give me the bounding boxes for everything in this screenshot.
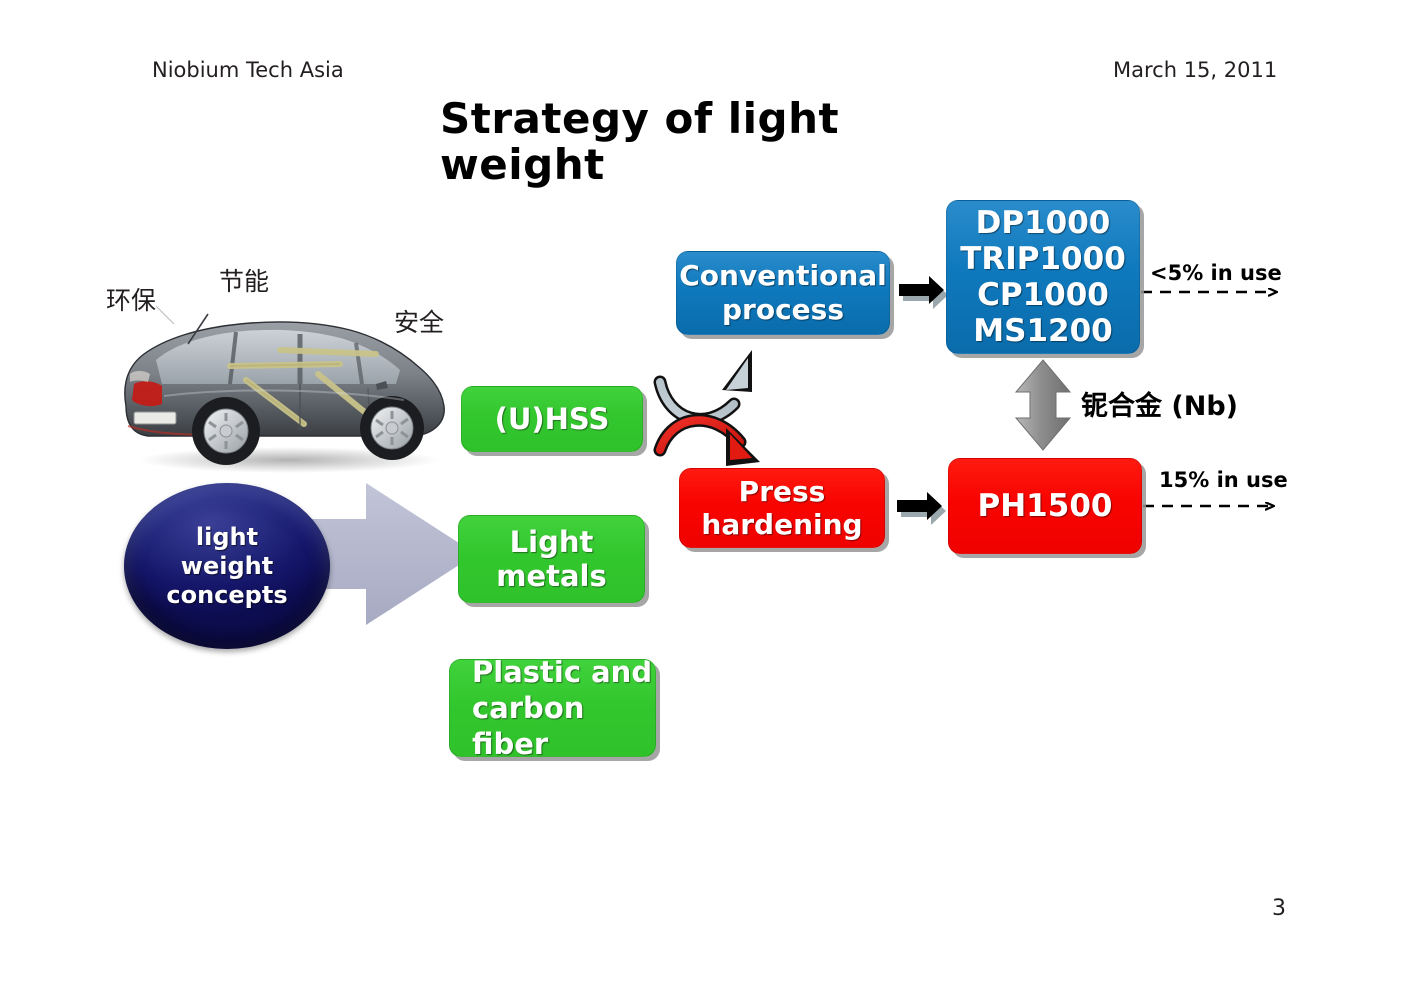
arrow-conventional-to-grades xyxy=(899,276,948,309)
plastic-line-2: carbon fiber xyxy=(472,691,584,757)
process-box-conventional[interactable]: Conventional process xyxy=(676,251,890,335)
concept-line-1: light xyxy=(196,523,258,551)
grade-line-3: CP1000 xyxy=(977,277,1109,313)
usage-note-conventional: <5% in use xyxy=(1150,261,1282,285)
process-box-press-hardening-label: Press hardening xyxy=(680,475,884,541)
process-box-conventional-label: Conventional process xyxy=(677,259,889,327)
header-date: March 15, 2011 xyxy=(1113,58,1277,82)
niobium-alloy-label: 铌合金 (Nb) xyxy=(1081,384,1238,423)
curve-arrow-to-press-hardening xyxy=(660,420,760,466)
light-metals-line-1: Light xyxy=(510,525,594,559)
press-line-2: hardening xyxy=(701,508,862,541)
process-box-press-hardening[interactable]: Press hardening xyxy=(679,468,885,548)
header-left-text: Niobium Tech Asia xyxy=(152,58,344,82)
light-weight-concepts-label: light weight concepts xyxy=(166,523,287,610)
grade-line-1: DP1000 xyxy=(976,205,1111,241)
conventional-line-1: Conventional xyxy=(679,259,887,292)
page-number: 3 xyxy=(1272,896,1286,921)
light-weight-concepts-circle[interactable]: light weight concepts xyxy=(124,483,330,649)
grade-line-4: MS1200 xyxy=(973,313,1112,349)
material-box-light-metals-label: Light metals xyxy=(496,525,607,593)
conventional-line-2: process xyxy=(722,293,844,326)
car-callout-huanbao: 环保 xyxy=(106,281,156,317)
material-box-uhss[interactable]: (U)HSS xyxy=(461,386,643,452)
grade-box-cold-formable-label: DP1000 TRIP1000 CP1000 MS1200 xyxy=(960,205,1126,349)
material-box-plastic-carbon-fiber[interactable]: Plastic and carbon fiber xyxy=(449,659,656,757)
material-box-plastic-label: Plastic and carbon fiber xyxy=(472,659,655,757)
material-box-light-metals[interactable]: Light metals xyxy=(458,515,645,603)
concept-line-3: concepts xyxy=(166,581,287,609)
grade-box-press-hardened-label: PH1500 xyxy=(978,488,1113,524)
concept-line-2: weight xyxy=(181,552,273,580)
double-arrow-nb-link xyxy=(1016,360,1070,450)
car-callout-anquan: 安全 xyxy=(394,303,444,339)
plastic-line-1: Plastic and xyxy=(472,659,652,689)
curve-arrow-to-conventional xyxy=(660,350,752,419)
material-box-uhss-label: (U)HSS xyxy=(495,402,610,436)
slide-canvas: Niobium Tech Asia March 15, 2011 Strateg… xyxy=(0,0,1403,992)
arrow-press-to-ph1500 xyxy=(897,492,946,525)
light-metals-line-2: metals xyxy=(496,559,607,593)
press-line-1: Press xyxy=(739,475,826,508)
grade-box-cold-formable[interactable]: DP1000 TRIP1000 CP1000 MS1200 xyxy=(946,200,1140,354)
page-title: Strategy of light weight xyxy=(440,96,980,188)
grade-box-press-hardened[interactable]: PH1500 xyxy=(948,458,1142,554)
grade-line-2: TRIP1000 xyxy=(960,241,1126,277)
car-callout-jieneng: 节能 xyxy=(219,262,269,298)
usage-note-press: 15% in use xyxy=(1159,468,1288,492)
